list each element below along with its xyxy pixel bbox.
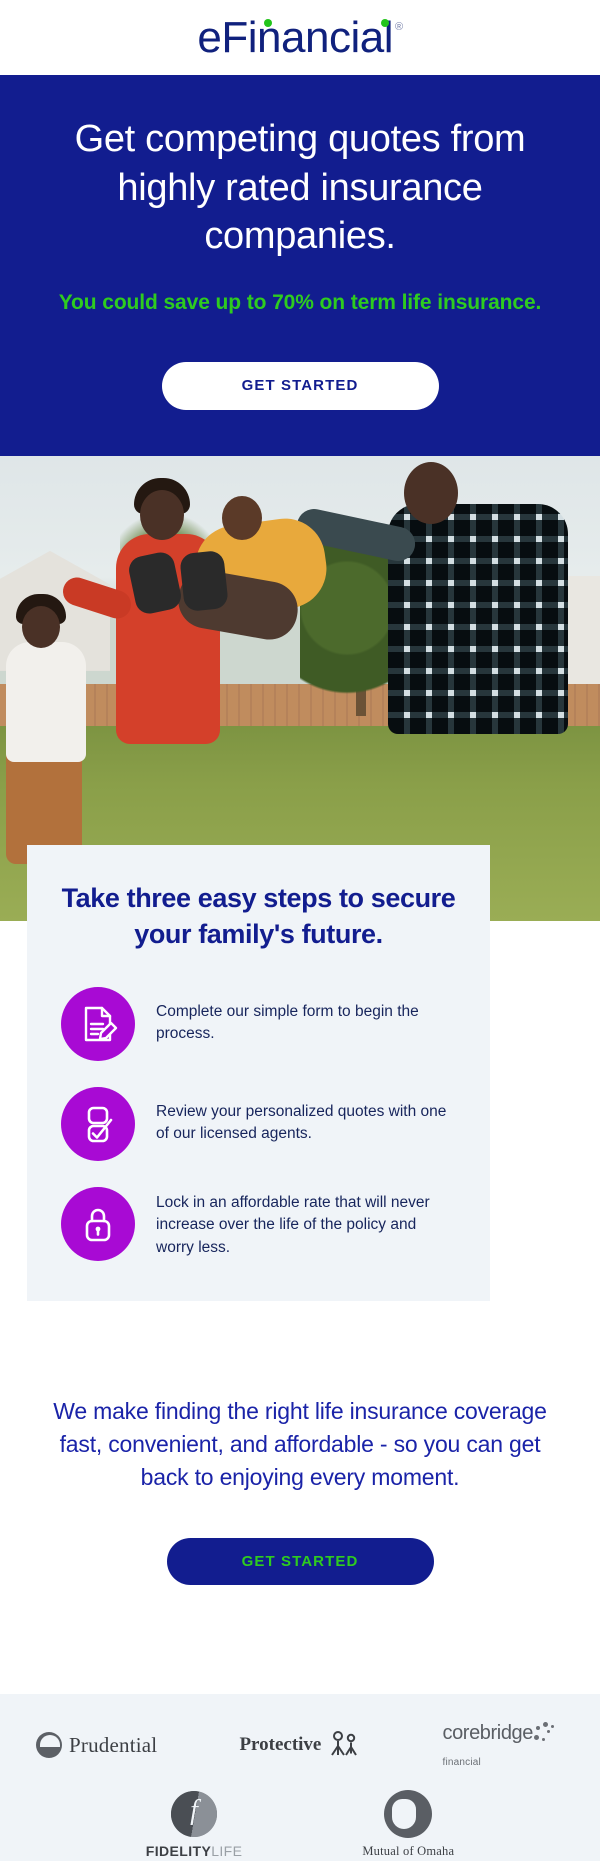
steps-list: Complete our simple form to begin the pr… xyxy=(61,987,456,1261)
registered-trademark-icon: ® xyxy=(395,22,403,33)
efinancial-logo[interactable]: eFinancial ® xyxy=(197,16,402,60)
closing-text: We make finding the right life insurance… xyxy=(46,1395,554,1494)
step-item: Complete our simple form to begin the pr… xyxy=(61,987,456,1061)
logo-wordmark: eFinancial xyxy=(197,16,393,60)
checkbox-list-icon xyxy=(61,1087,135,1161)
steps-card-title: Take three easy steps to secure your fam… xyxy=(61,881,456,953)
photo-child-head xyxy=(222,496,262,540)
step-description: Lock in an affordable rate that will nev… xyxy=(156,1187,456,1259)
corebridge-dots-icon xyxy=(534,1722,564,1748)
photo-father xyxy=(388,504,568,734)
carrier-name: Mutual of Omaha xyxy=(362,1844,454,1859)
photo-girl xyxy=(6,642,86,762)
photo-mother-head xyxy=(140,490,184,540)
footer-get-started-button[interactable]: GET STARTED xyxy=(167,1538,434,1585)
carrier-name-bold: FIDELITY xyxy=(146,1843,211,1859)
carrier-name: FIDELITYLIFE xyxy=(146,1843,243,1859)
landing-page: eFinancial ® Get competing quotes from h… xyxy=(0,0,600,1861)
carrier-logo-row: Prudential Protective corebridge xyxy=(36,1722,564,1768)
hero-subtitle: You could save up to 70% on term life in… xyxy=(40,289,560,318)
carrier-logos-footer: Prudential Protective corebridge xyxy=(0,1694,600,1861)
protective-people-icon xyxy=(328,1730,360,1760)
omaha-lion-icon xyxy=(384,1790,432,1838)
photo-father-head xyxy=(404,462,458,524)
carrier-fidelity-life: FIDELITYLIFE xyxy=(146,1791,243,1859)
step-item: Lock in an affordable rate that will nev… xyxy=(61,1187,456,1261)
step-description: Complete our simple form to begin the pr… xyxy=(156,987,456,1046)
document-pencil-icon xyxy=(61,987,135,1061)
logo-dot-icon xyxy=(264,19,272,27)
site-header: eFinancial ® xyxy=(0,0,600,75)
photo-child-shoe xyxy=(179,550,229,612)
steps-card: Take three easy steps to secure your fam… xyxy=(27,845,490,1301)
hero-get-started-button[interactable]: GET STARTED xyxy=(162,362,439,410)
step-description: Review your personalized quotes with one… xyxy=(156,1087,456,1146)
carrier-corebridge: corebridge financial xyxy=(442,1722,564,1768)
closing-section: We make finding the right life insurance… xyxy=(0,1395,600,1585)
fidelity-f-icon xyxy=(171,1791,217,1837)
carrier-name: corebridge xyxy=(442,1722,533,1745)
carrier-protective: Protective xyxy=(239,1730,360,1760)
hero-section: Get competing quotes from highly rated i… xyxy=(0,75,600,456)
hero-title: Get competing quotes from highly rated i… xyxy=(40,115,560,261)
carrier-name: Prudential xyxy=(69,1733,157,1758)
step-item: Review your personalized quotes with one… xyxy=(61,1087,456,1161)
photo-girl-head xyxy=(22,606,60,648)
carrier-name-light: LIFE xyxy=(211,1843,242,1859)
carrier-name: Protective xyxy=(239,1734,321,1756)
carrier-subname: financial xyxy=(442,1757,481,1768)
logo-dot-icon xyxy=(381,19,389,27)
lock-icon xyxy=(61,1187,135,1261)
prudential-rock-icon xyxy=(36,1732,62,1758)
carrier-mutual-of-omaha: Mutual of Omaha xyxy=(362,1790,454,1859)
carrier-logo-row: FIDELITYLIFE Mutual of Omaha xyxy=(36,1790,564,1859)
carrier-prudential: Prudential xyxy=(36,1732,157,1758)
